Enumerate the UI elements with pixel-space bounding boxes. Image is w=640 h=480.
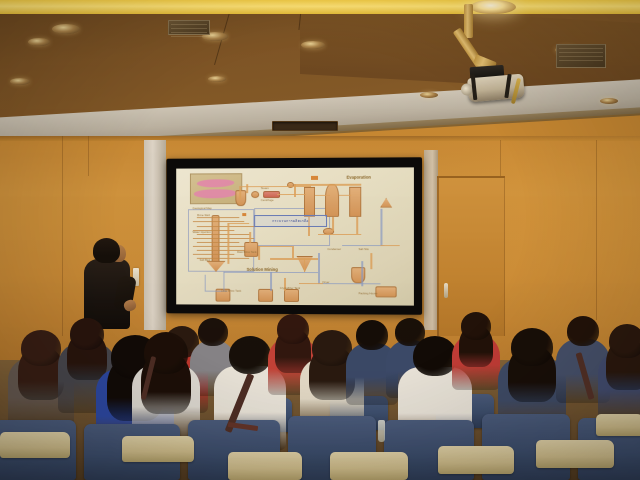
slide-label-10: Packing House xyxy=(358,292,377,296)
slide-separator-center xyxy=(325,184,339,217)
audience-member-13 xyxy=(452,312,500,396)
slide-label-13: Salt Bed xyxy=(200,258,210,262)
wall-speaker-slot xyxy=(272,121,338,131)
person-head xyxy=(511,328,553,366)
chair-tablet-1[interactable] xyxy=(0,432,70,458)
audience-member-16 xyxy=(598,324,640,428)
slide-pipe-32 xyxy=(380,245,399,246)
chair-tablet-5[interactable] xyxy=(438,446,514,474)
vent-slat xyxy=(559,56,603,57)
projection-screen[interactable]: กระบวนการผลิตเกลือ EvaporationSolution M… xyxy=(166,157,422,315)
slide-evaporator-right xyxy=(349,187,361,217)
slide-label-7: Steam xyxy=(261,186,269,190)
pillar-right-of-screen xyxy=(424,150,438,330)
slide-strata-row xyxy=(197,234,249,235)
slide-label-2: Brine Well xyxy=(197,213,210,217)
slide-pipe-0 xyxy=(240,186,311,187)
air-vent-right xyxy=(556,44,606,68)
slide-pipe-25 xyxy=(361,261,363,286)
map-blob-lower xyxy=(194,189,236,198)
slide-pipe-22 xyxy=(270,272,272,291)
slide-pipe-16 xyxy=(258,246,291,247)
slide-label-4: Clear Brine Tank xyxy=(221,288,241,292)
vent-slat xyxy=(171,32,207,33)
slide-pipe-13 xyxy=(228,223,249,224)
vent-slat xyxy=(559,48,603,49)
slide-pipe-7 xyxy=(339,195,351,196)
slide-pipe-33 xyxy=(370,253,372,270)
downlight-4 xyxy=(301,41,325,49)
wall-seam-1 xyxy=(62,136,63,336)
slide-pipe-15 xyxy=(258,246,260,260)
pillar-left-of-screen xyxy=(144,140,166,330)
slide-pipe-27 xyxy=(342,245,385,246)
slide-well-strata xyxy=(176,167,414,168)
slide-pipe-9 xyxy=(356,217,358,234)
downlight-ceiling-bright xyxy=(470,0,516,14)
chair-tablet-6[interactable] xyxy=(536,440,614,468)
chair-tablet-3[interactable] xyxy=(228,452,302,480)
map-blob-upper xyxy=(197,179,234,188)
person-head xyxy=(21,330,61,366)
presenter-head xyxy=(93,238,120,263)
slide-label-14: Water Injection xyxy=(193,230,211,234)
downlight-1 xyxy=(52,24,80,34)
slide-pipe-1 xyxy=(240,186,242,200)
projector-arm-vertical xyxy=(464,4,473,38)
person-head xyxy=(356,320,388,350)
person-head xyxy=(461,312,491,340)
wall-seam-4 xyxy=(88,136,89,176)
downlight-9 xyxy=(600,98,618,104)
vent-slat xyxy=(171,28,207,29)
chair-tablet-2[interactable] xyxy=(122,436,194,462)
slide-label-3: Raw Brine Tank xyxy=(237,250,256,254)
chair-tablet-7[interactable] xyxy=(596,414,640,436)
cove-light-strip xyxy=(0,0,640,14)
slide-pipe-6 xyxy=(315,195,329,196)
slide-labels: EvaporationSolution MiningBrine WellRaw … xyxy=(176,167,414,168)
slide-marker-top-2 xyxy=(242,213,247,216)
slide-pump-1 xyxy=(251,191,259,198)
door-handle-icon[interactable] xyxy=(444,283,448,298)
screen-surface: กระบวนการผลิตเกลือ EvaporationSolution M… xyxy=(176,167,414,305)
slide-salt-silo xyxy=(351,267,365,284)
slide-pipe-2 xyxy=(247,185,249,193)
slide-pipe-14 xyxy=(249,232,251,243)
slide-pipe-3 xyxy=(277,194,306,195)
person-head xyxy=(609,324,640,358)
slide-pipe-31 xyxy=(299,283,323,284)
slide-label-11: Dryer xyxy=(323,280,330,284)
downlight-6 xyxy=(10,78,30,85)
person-head xyxy=(567,316,599,346)
person-head xyxy=(229,336,271,374)
vent-slat xyxy=(559,60,603,61)
slide-pipe-12 xyxy=(228,223,230,264)
slide-pipe-4 xyxy=(294,184,296,196)
slide-marker-top-1 xyxy=(311,176,318,180)
chair-tablet-4[interactable] xyxy=(330,452,408,480)
slide-label-8: Condenser xyxy=(327,247,341,251)
slide-piping xyxy=(176,167,414,168)
vent-slat xyxy=(171,36,207,37)
slide-label-0: Evaporation xyxy=(346,174,370,179)
slide-tank-bottom-3 xyxy=(284,289,298,303)
slide-pipe-5 xyxy=(294,184,361,185)
slide-strata-row xyxy=(193,246,245,247)
slide-process-flow-diagram: กระบวนการผลิตเกลือ EvaporationSolution M… xyxy=(176,167,414,305)
air-vent-left xyxy=(168,20,210,35)
slide-title-box: กระบวนการผลิตเกลือ xyxy=(254,215,328,227)
slide-evaporator-left xyxy=(304,187,316,217)
downlight-7 xyxy=(208,76,226,82)
slide-strata-row xyxy=(193,238,254,239)
slide-label-12: Geological Map xyxy=(193,207,212,211)
vent-slat xyxy=(559,52,603,53)
vent-slat xyxy=(171,24,207,25)
slide-pipe-11 xyxy=(332,217,334,231)
slide-label-5: Crystallizer Tank xyxy=(280,286,300,290)
slide-label-9: Salt Silo xyxy=(358,248,368,252)
slide-conveyor-end xyxy=(375,286,397,297)
slide-strata-row xyxy=(197,242,239,243)
slide-packing-unit xyxy=(380,198,392,208)
downlight-8 xyxy=(420,92,438,98)
slide-pipe-19 xyxy=(304,258,306,272)
slide-geological-map xyxy=(190,174,242,204)
slide-label-1: Solution Mining xyxy=(247,267,278,272)
water-bottle xyxy=(378,420,385,442)
slide-strata-row xyxy=(197,217,239,218)
wall-seam-3 xyxy=(596,140,597,320)
slide-pipe-10 xyxy=(318,234,361,235)
slide-label-6: Centrifuge xyxy=(261,198,274,202)
slide-pipe-17 xyxy=(292,246,294,258)
slide-pipe-18 xyxy=(270,258,318,259)
lecture-hall-scene: กระบวนการผลิตเกลือ EvaporationSolution M… xyxy=(0,0,640,480)
person-head xyxy=(413,336,457,376)
slide-pipe-26 xyxy=(380,209,382,245)
slide-pipe-23 xyxy=(318,253,320,283)
downlight-2 xyxy=(28,38,50,46)
slide-pipe-28 xyxy=(204,275,206,291)
slide-valve-1 xyxy=(287,182,294,188)
